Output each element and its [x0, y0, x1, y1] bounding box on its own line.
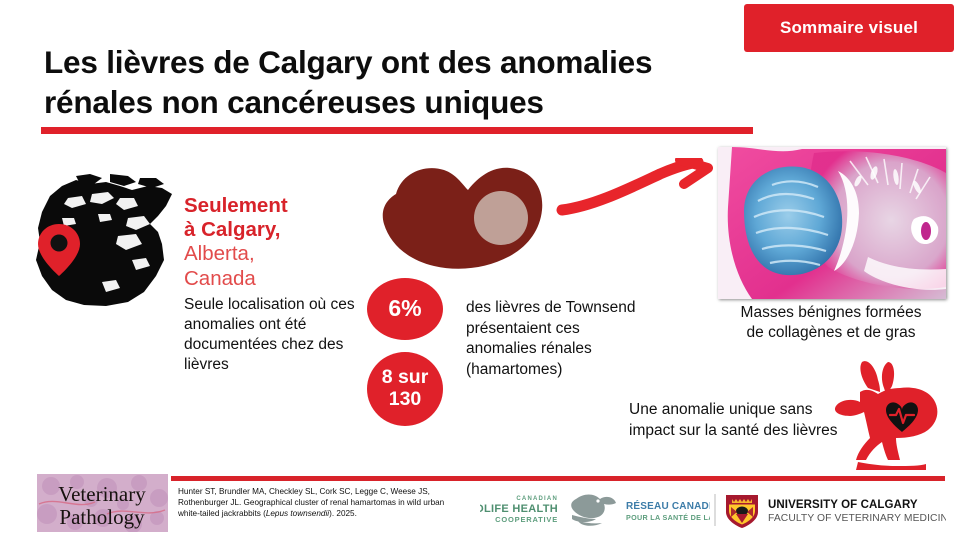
left-body-text: Seule localisation où ces anomalies ont …: [184, 295, 356, 376]
slide-root: Sommaire visuel Les lièvres de Calgary o…: [0, 0, 960, 540]
north-america-map-icon: [32, 172, 182, 307]
sommaire-visuel-badge: Sommaire visuel: [744, 4, 954, 52]
hare-silhouette-icon: [822, 358, 950, 470]
curved-arrow-icon: [556, 158, 726, 228]
svg-text:Pathology: Pathology: [59, 505, 145, 529]
ucalgary-line-2: FACULTY OF VETERINARY MEDICINE: [768, 513, 946, 524]
left-subheading-line-2: Canada: [184, 267, 356, 291]
hamartoma-mass: [744, 166, 842, 275]
histology-slide-image: [718, 147, 946, 299]
svg-text:CANADIAN: CANADIAN: [516, 496, 558, 502]
health-note-text: Une anomalie unique sans impact sur la s…: [629, 400, 839, 441]
left-subheading-line-1: Alberta,: [184, 242, 356, 266]
shield-crest-icon: [726, 495, 758, 528]
stat-percent-value: 6%: [388, 297, 421, 320]
hamartoma-nodule: [474, 191, 528, 245]
cwhc-logo: CANADIAN WILDLIFE HEALTH COOPERATIVE RÉS…: [480, 487, 710, 532]
histology-caption-line-2: de collagènes et de gras: [700, 323, 960, 343]
page-title: Les lièvres de Calgary ont des anomalies…: [44, 42, 764, 123]
citation-part-2: ). 2025.: [329, 509, 357, 518]
title-line-2: rénales non cancéreuses uniques: [44, 82, 764, 122]
ucalgary-line-1: UNIVERSITY OF CALGARY: [768, 499, 918, 511]
title-line-1: Les lièvres de Calgary ont des anomalies: [44, 42, 764, 82]
title-divider: [41, 127, 753, 134]
kidney-organ-icon: [368, 160, 568, 275]
histology-caption-line-1: Masses bénignes formées: [700, 303, 960, 323]
stat-ratio: 8 sur 130: [367, 352, 443, 426]
left-text-block: Seulement à Calgary, Alberta, Canada Seu…: [184, 194, 356, 375]
left-heading-line-1: Seulement: [184, 194, 356, 218]
svg-text:WILDLIFE HEALTH: WILDLIFE HEALTH: [480, 503, 558, 515]
stat-description: des lièvres de Townsend présentaient ces…: [466, 298, 646, 380]
svg-text:POUR LA SANTÉ DE LA FAUNE: POUR LA SANTÉ DE LA FAUNE: [626, 513, 710, 522]
bird-icon: [571, 495, 616, 526]
svg-text:Veterinary: Veterinary: [58, 482, 146, 506]
stat-ratio-value: 8 sur 130: [367, 367, 443, 411]
svg-text:RÉSEAU CANADIEN: RÉSEAU CANADIEN: [626, 499, 710, 512]
ucalgary-logo: UNIVERSITY OF CALGARY FACULTY OF VETERIN…: [714, 490, 946, 530]
citation-species-italic: Lepus townsendii: [266, 509, 329, 518]
stat-percent: 6%: [367, 278, 443, 340]
svg-text:COOPERATIVE: COOPERATIVE: [495, 515, 558, 524]
footer-divider: [171, 476, 945, 481]
citation-text: Hunter ST, Brundler MA, Checkley SL, Cor…: [178, 486, 468, 519]
left-heading-line-2: à Calgary,: [184, 218, 356, 242]
histology-caption: Masses bénignes formées de collagènes et…: [700, 303, 960, 344]
badge-label: Sommaire visuel: [780, 18, 918, 38]
veterinary-pathology-logo: Veterinary Pathology: [37, 474, 168, 532]
